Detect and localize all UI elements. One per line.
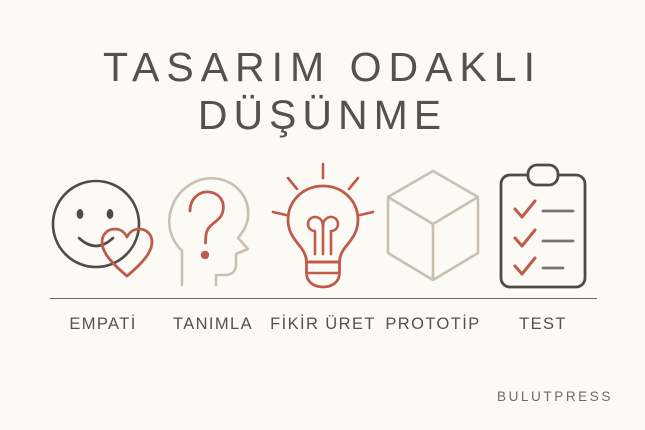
step-label-test: TEST [488,315,598,334]
poster-canvas: TASARIM ODAKLI DÜŞÜNME [0,0,645,430]
isometric-cube-icon [383,167,483,285]
step-label-prototip: PROTOTİP [378,315,488,334]
title-line-2: DÜŞÜNME [0,92,645,140]
brand-wordmark: BULUTPRESS [497,389,613,404]
title-line-1: TASARIM ODAKLI [0,44,645,92]
lightbulb-icon [271,162,375,290]
head-profile-question-mark-icon [160,165,266,287]
divider-line [50,298,597,299]
smiley-face-with-heart-icon [49,166,157,286]
step-label-tanimla: TANIMLA [158,315,268,334]
process-icons-row [48,160,598,292]
step-label-fikir-uret: FİKİR ÜRET [268,315,378,334]
step-icon-prototip [378,160,488,292]
step-label-empati: EMPATİ [48,315,158,334]
step-icon-tanimla [158,160,268,292]
step-icon-test [488,160,598,292]
clipboard-checklist-icon [495,163,591,289]
step-icon-fikir-uret [268,160,378,292]
page-title: TASARIM ODAKLI DÜŞÜNME [0,44,645,140]
step-icon-empati [48,160,158,292]
process-labels-row: EMPATİ TANIMLA FİKİR ÜRET PROTOTİP TEST [48,310,598,338]
